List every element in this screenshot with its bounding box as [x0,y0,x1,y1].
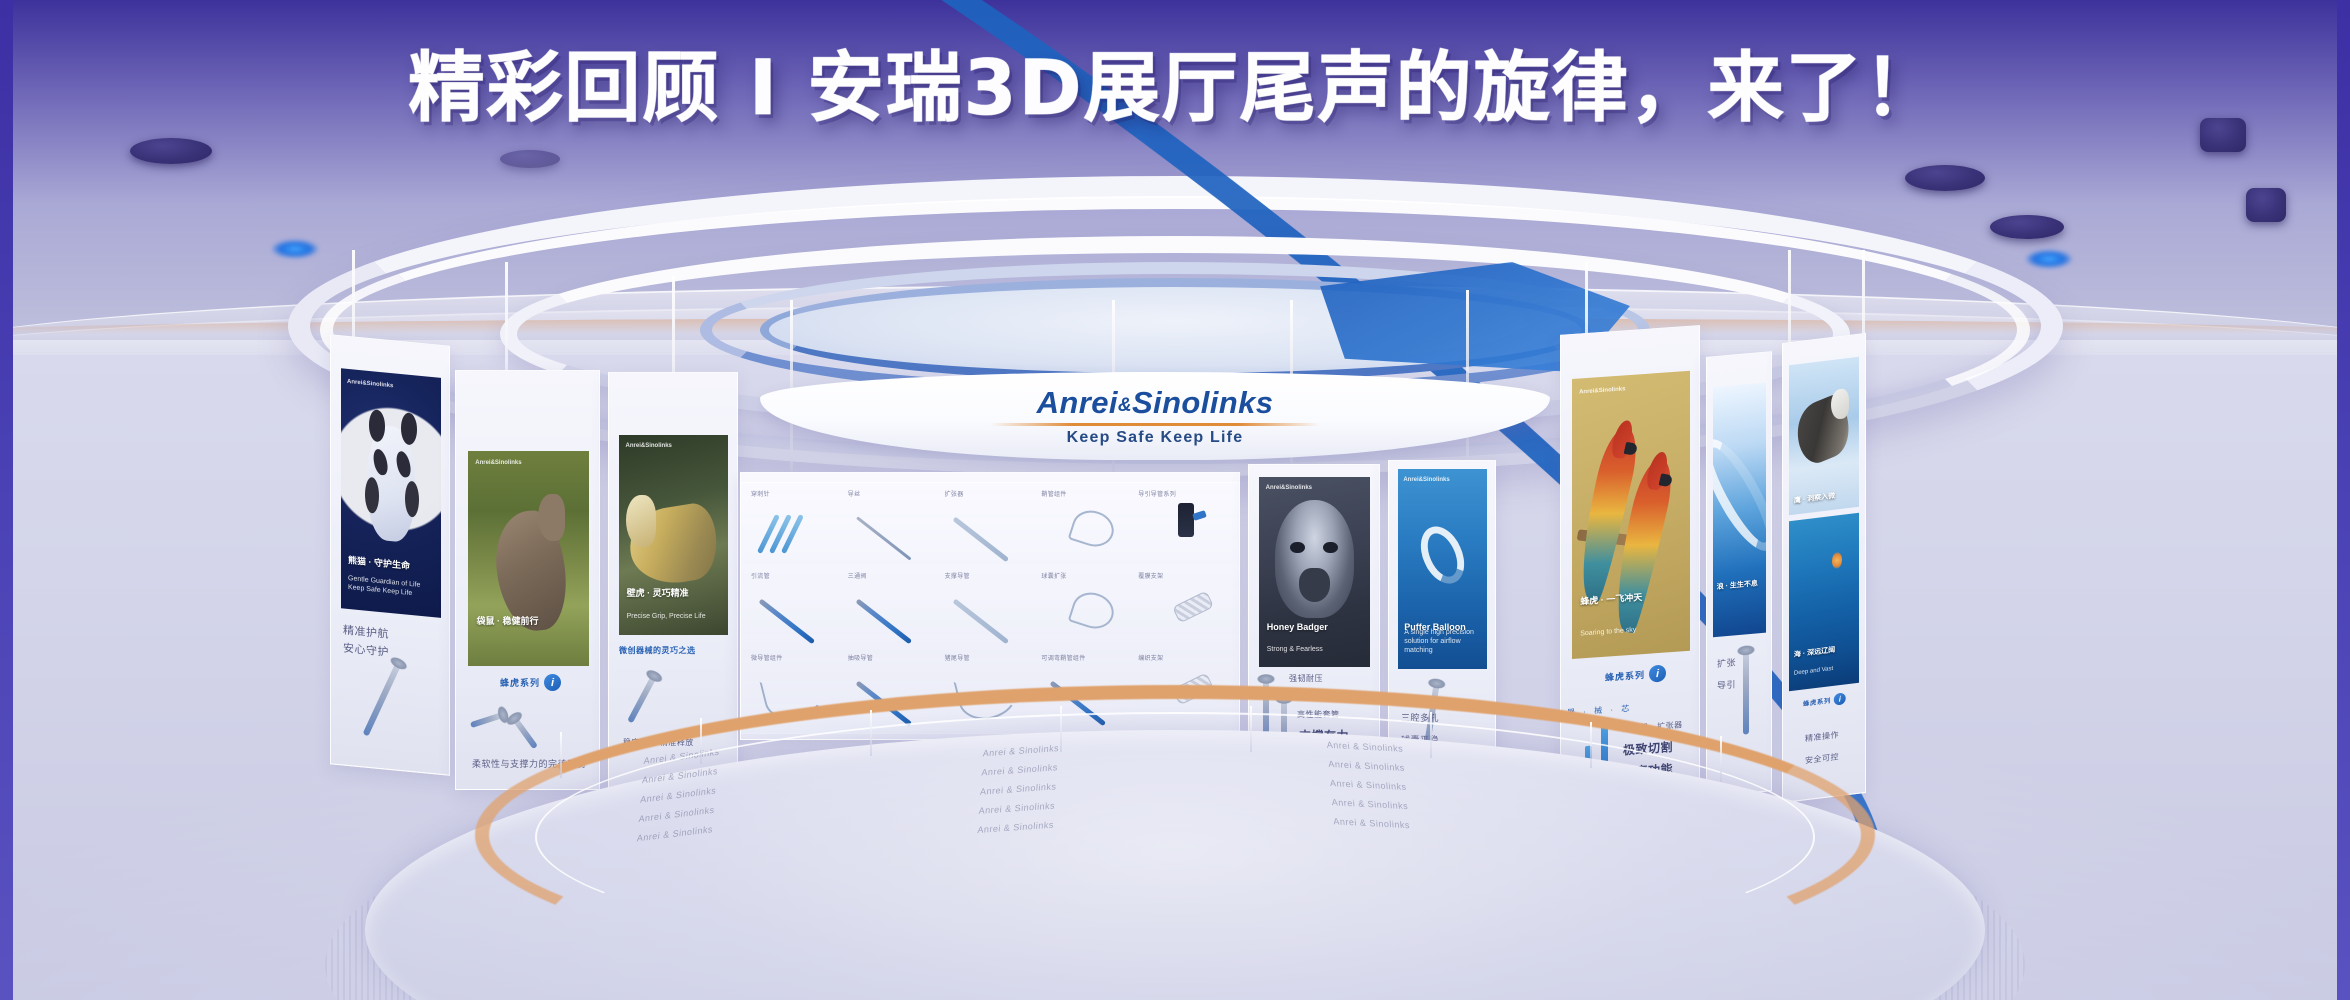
instrument-cell[interactable]: 扩张器 [943,489,1038,569]
rail-post [560,732,562,778]
poster-brand-label: Anrei&Sinolinks [475,460,521,466]
poster-bee-eater[interactable]: Anrei&Sinolinks 蜂虎 · 一飞冲天 Soaring to the… [1572,371,1690,659]
poster-brand-label: Anrei&Sinolinks [626,443,672,449]
instrument-label: 球囊扩张 [1041,571,1066,580]
instrument-cell[interactable]: 球囊扩张 [1039,571,1134,651]
instrument-label: 三通阀 [848,571,867,580]
poster-title: 袋鼠 · 稳健前行 [476,615,580,627]
panda-ear-right-shape [401,412,417,445]
balloon-device-shape [1412,520,1472,591]
instrument-label: 鞘管组件 [1041,489,1066,498]
instrument-label: 覆膜支架 [1138,571,1163,580]
rail-post [1720,736,1722,782]
poster-blue-device[interactable]: Anrei&Sinolinks Puffer Balloon A single … [1398,469,1487,669]
instrument-cell[interactable]: 穿刺针 [749,489,844,569]
instrument-label: 穿刺针 [751,489,770,498]
poster-eagle[interactable]: 鹰 · 洞察入微 [1789,357,1859,516]
poster-brand-label: Anrei&Sinolinks [1403,477,1449,483]
poster-brand-label: Anrei&Sinolinks [1266,485,1312,491]
ring-glow-right-icon [2026,250,2072,268]
poster-title: 熊猫 · 守护生命 [348,554,434,574]
ceiling-light-icon [500,150,560,168]
exhibition-banner: Anrei&Sinolinks Keep Safe Keep Life Anre… [0,0,2350,1000]
poster-title: 海 · 深远辽阔 [1794,643,1854,660]
instrument-label: 扩张器 [945,489,964,498]
gecko-head-shape [626,495,657,547]
left-edge-border [0,0,13,1000]
poster-subtitle: Precise Grip, Precise Life [627,612,721,621]
rail-post [1250,706,1252,752]
instrument-cell[interactable]: 三通阀 [846,571,941,651]
poster-title: 浪 · 生生不息 [1717,579,1763,592]
poster-title: 壁虎 · 灵巧精准 [627,587,721,599]
instrument-shape-balloon [1067,588,1118,634]
ceiling-light-icon [1905,165,1985,191]
floor-stage: Anrei & Sinolinks Anrei & Sinolinks Anre… [0,680,2350,1000]
poster-gecko[interactable]: Anrei&Sinolinks 壁虎 · 灵巧精准 Precise Grip, … [619,435,728,635]
instrument-label: 导丝 [848,489,861,498]
panel-caption-line-2: 安心守护 [343,640,389,662]
ring-glow-left-icon [272,240,318,258]
ceiling-light-icon [2246,188,2286,222]
instrument-label: 可调弯鞘管组件 [1041,653,1085,662]
rail-post [1060,706,1062,752]
rail-post [1430,712,1432,758]
poster-subtitle: Gentle Guardian of Life Keep Safe Keep L… [348,574,434,600]
ceiling-light-icon [130,138,212,164]
bird-beak-1-shape [1623,442,1637,456]
page-title: 精彩回顾 I 安瑞3D展厅尾声的旋律，来了！ [408,26,1941,136]
poster-title: Honey Badger [1267,621,1362,633]
instrument-label: 支撑导管 [945,571,970,580]
rail-post [1590,722,1592,768]
poster-badger[interactable]: Anrei&Sinolinks Honey Badger Strong & Fe… [1259,477,1370,667]
instrument-label: 引流管 [751,571,770,580]
instrument-cell[interactable]: 导丝 [846,489,941,569]
instrument-cell[interactable]: 覆膜支架 [1136,571,1231,651]
poster-subtitle: Strong & Fearless [1267,645,1362,654]
instrument-cell[interactable]: 鞘管组件 [1039,489,1134,569]
ceiling-light-icon [1990,215,2064,239]
instrument-label: 导引导管系列 [1138,489,1176,498]
panel-caption: 扩张 [1717,655,1736,671]
sun-icon [1832,552,1842,568]
bird-beak-2-shape [1658,473,1672,487]
instrument-shape-hub [1178,503,1194,537]
instrument-cell[interactable]: 支撑导管 [943,571,1038,651]
instrument-cell[interactable]: 引流管 [749,571,844,651]
rail-post [700,718,702,764]
poster-brand-label: Anrei&Sinolinks [347,378,393,388]
wave-swirl-shape [1713,429,1766,560]
poster-wave[interactable]: 浪 · 生生不息 [1713,383,1766,638]
stage-rail [535,712,1815,962]
poster-kangaroo[interactable]: Anrei&Sinolinks 袋鼠 · 稳健前行 [468,451,589,666]
instrument-cell[interactable]: 导引导管系列 [1136,489,1231,569]
instrument-label: 抽吸导管 [848,653,873,662]
instrument-shape-guidewire [856,517,912,561]
poster-brand-label: Anrei&Sinolinks [1579,387,1625,396]
instrument-shape-valve [856,599,913,645]
instrument-label: 编织支架 [1138,653,1163,662]
rail-post [870,710,872,756]
badger-eye-right-shape [1323,542,1337,553]
panda-arm-right-shape [405,480,419,517]
poster-subtitle: Deep and Vast [1794,664,1854,679]
panel-caption: 微创器械的灵巧之选 [619,645,696,658]
kangaroo-head-shape [538,494,565,541]
instrument-shape-support [952,599,1009,645]
poster-panda[interactable]: Anrei&Sinolinks 熊猫 · 守护生命 Gentle Guardia… [341,368,441,618]
instrument-shape-tri-bars [762,513,815,555]
poster-subtitle: A single high precision solution for air… [1404,628,1481,655]
poster-ocean[interactable]: 海 · 深远辽阔 Deep and Vast [1789,513,1859,692]
instrument-label: 猪尾导管 [945,653,970,662]
instrument-shape-loop [1067,506,1118,552]
instrument-shape-dilator [952,517,1009,563]
poster-title: 鹰 · 洞察入微 [1794,489,1854,506]
banner-title-container: 精彩回顾 I 安瑞3D展厅尾声的旋律，来了！ [0,26,2350,136]
badger-eye-left-shape [1290,542,1304,553]
exhibition-hall-scene: Anrei&Sinolinks Keep Safe Keep Life Anre… [0,0,2350,1000]
right-edge-border [2337,0,2350,1000]
eagle-head-shape [1831,388,1849,420]
instrument-shape-drain [759,599,816,645]
instrument-shape-stent [1172,591,1214,623]
panda-ear-left-shape [369,409,385,442]
instrument-label: 微导管组件 [751,653,783,662]
